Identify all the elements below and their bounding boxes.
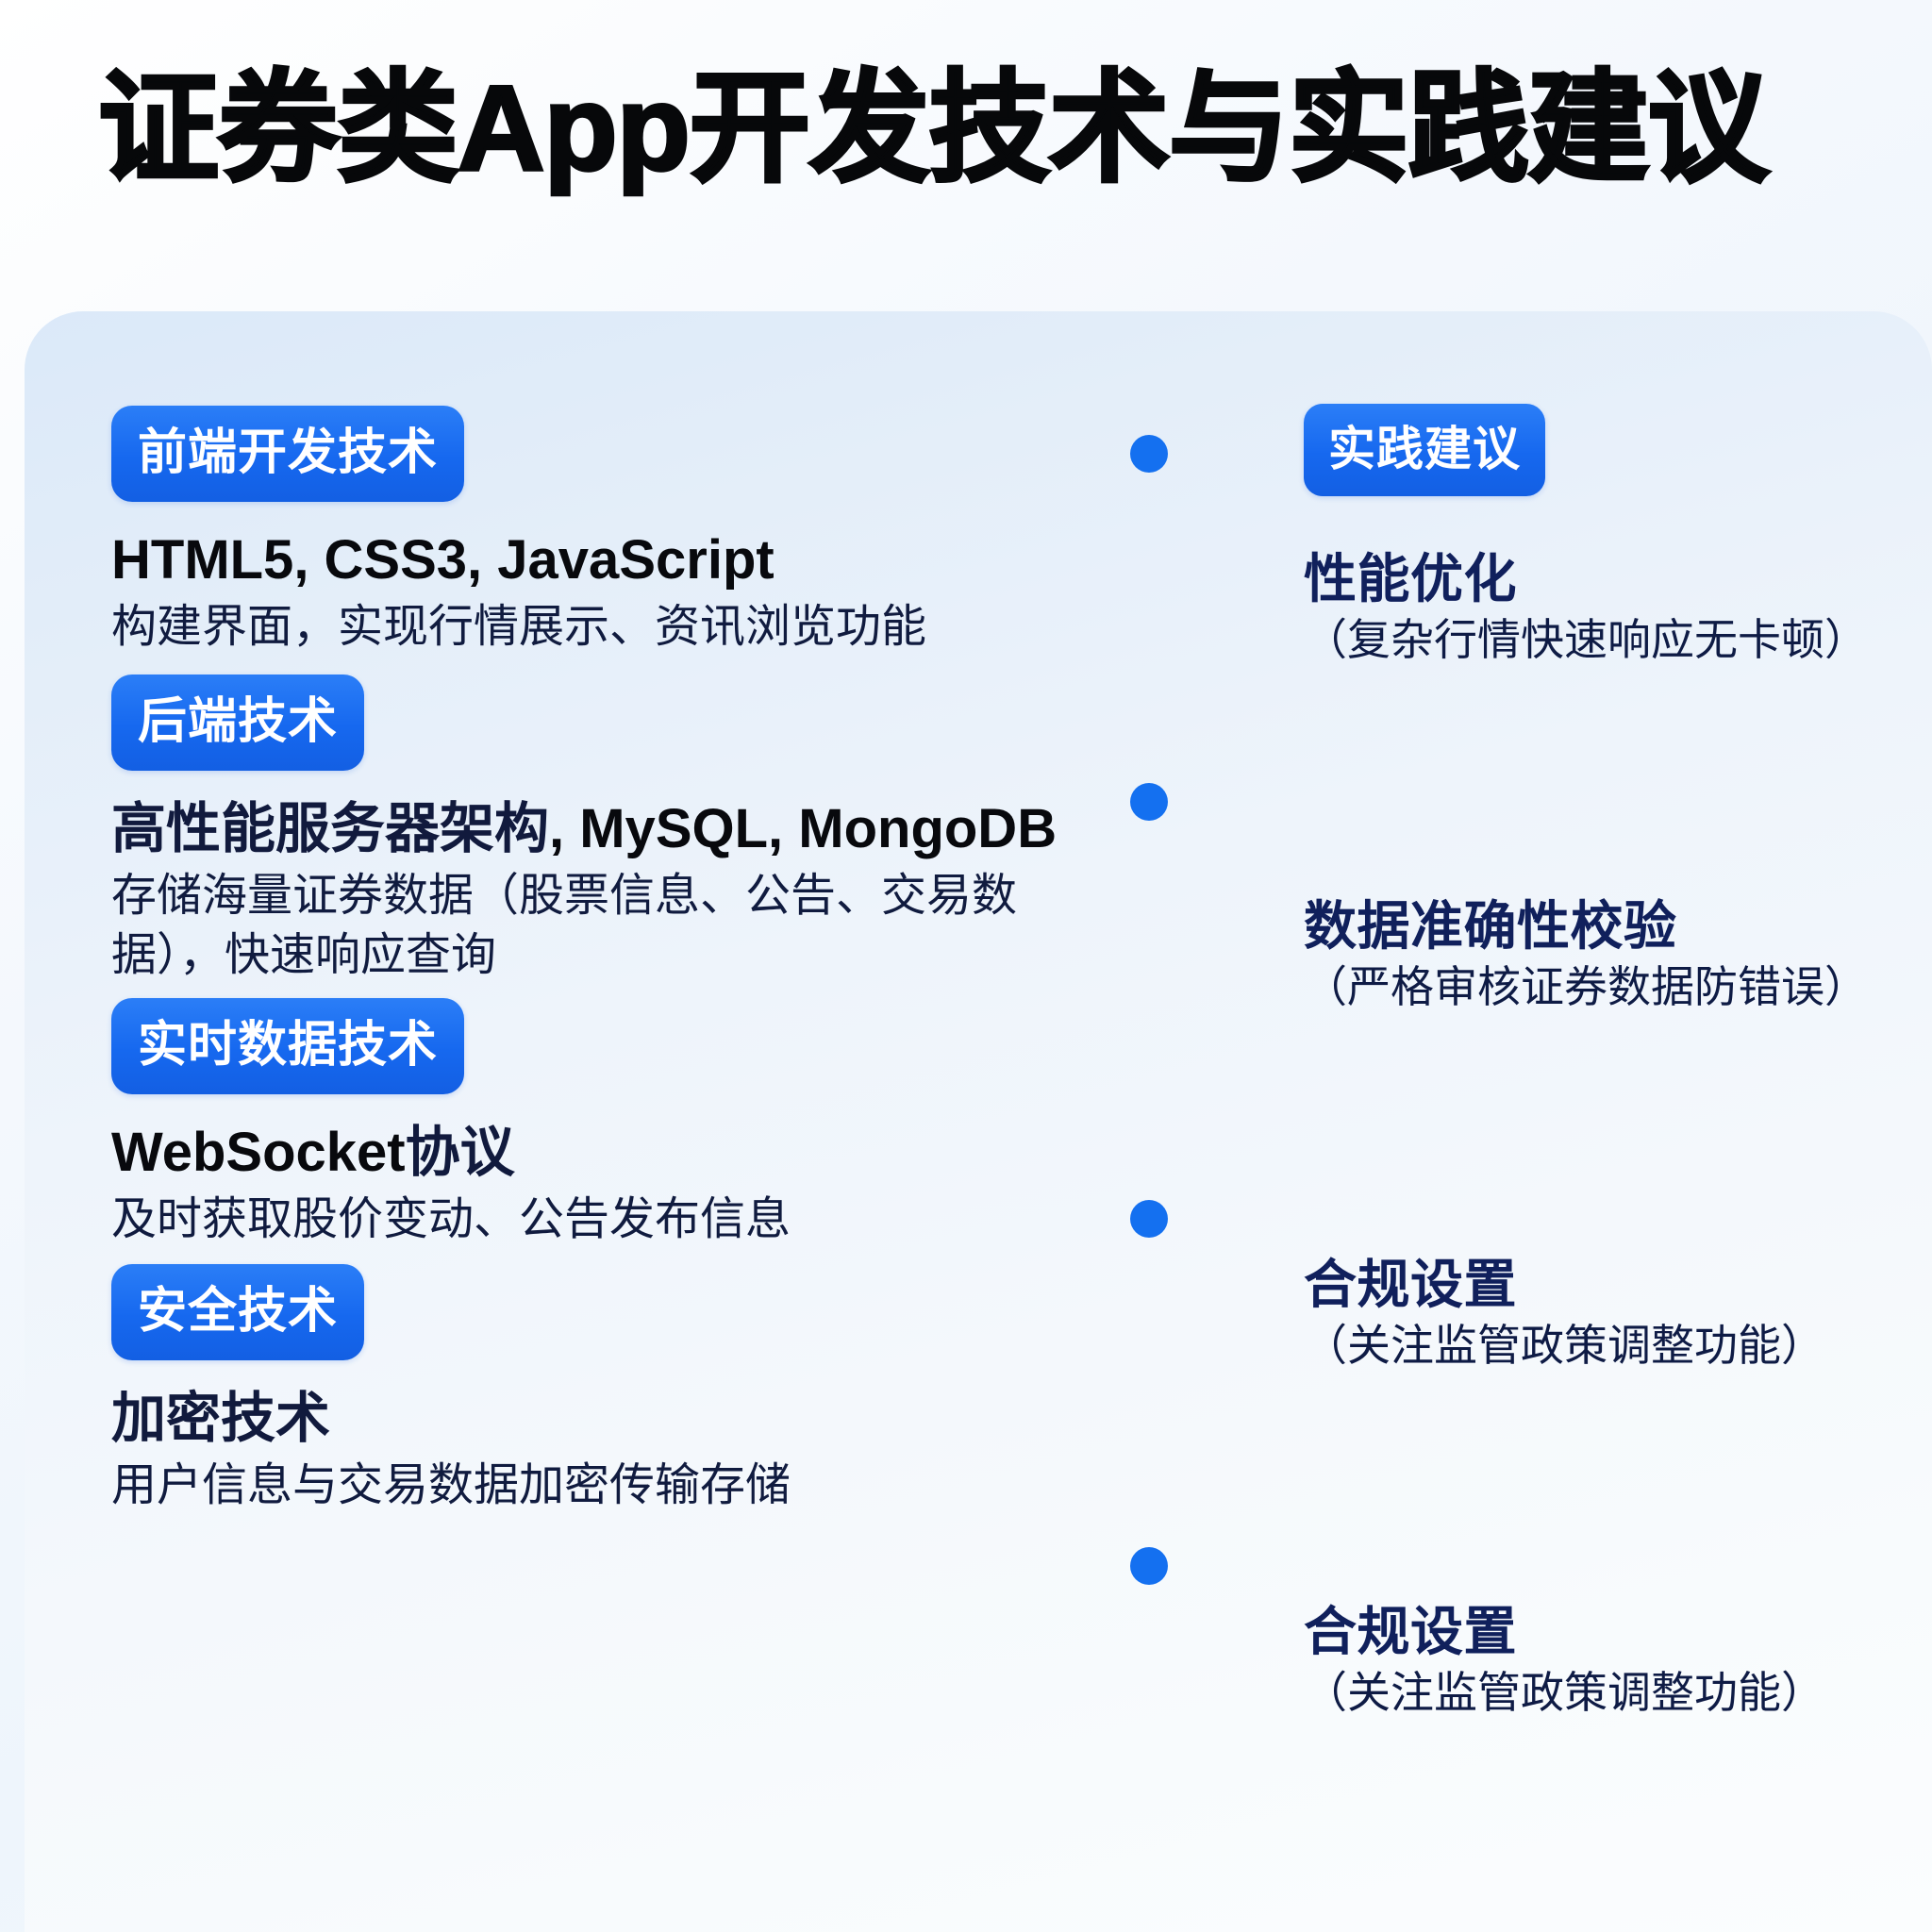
- desc-security: 用户信息与交易数据加密传输存储: [111, 1457, 1017, 1515]
- page-title: 证券类App开发技术与实践建议: [98, 69, 1768, 190]
- practice-desc-compliance-2: （关注监管政策调整功能）: [1304, 1666, 1870, 1721]
- practice-heading-performance: 性能优化: [1304, 549, 1907, 609]
- badge-security[interactable]: 安全技术: [111, 1264, 364, 1360]
- practice-section-compliance-2: 合规设置 （关注监管政策调整功能）: [1304, 1602, 1907, 1721]
- badge-backend[interactable]: 后端技术: [111, 675, 364, 771]
- heading-security-cn: 加密技术: [111, 1388, 330, 1449]
- tech-section-frontend: 前端开发技术 HTML5, CSS3, JavaScript 构建界面，实现行情…: [111, 406, 1055, 658]
- heading-backend: 高性能服务器架构, MySQL, MongoDB: [111, 797, 1055, 861]
- practice-heading-data-accuracy: 数据准确性校验: [1304, 896, 1907, 957]
- heading-security: 加密技术: [111, 1387, 1055, 1451]
- practice-section-performance: 性能优化 （复杂行情快速响应无卡顿）: [1304, 549, 1907, 668]
- desc-backend: 存储海量证券数据（股票信息、公告、交易数据），快速响应查询: [111, 867, 1017, 985]
- heading-frontend: HTML5, CSS3, JavaScript: [111, 528, 1055, 592]
- practice-badge-wrap: 实践建议: [1304, 404, 1907, 496]
- heading-backend-en: , MySQL, MongoDB: [549, 798, 1057, 859]
- tech-section-backend: 后端技术 高性能服务器架构, MySQL, MongoDB 存储海量证券数据（股…: [111, 675, 1055, 985]
- practice-desc-compliance-1: （关注监管政策调整功能）: [1304, 1319, 1870, 1374]
- badge-realtime[interactable]: 实时数据技术: [111, 998, 464, 1094]
- tech-section-realtime: 实时数据技术 WebSocket协议 及时获取股价变动、公告发布信息: [111, 998, 1055, 1250]
- desc-realtime: 及时获取股价变动、公告发布信息: [111, 1191, 1017, 1249]
- heading-realtime: WebSocket协议: [111, 1121, 1055, 1185]
- practice-section-compliance-1: 合规设置 （关注监管政策调整功能）: [1304, 1255, 1907, 1374]
- practice-desc-performance: （复杂行情快速响应无卡顿）: [1304, 613, 1870, 668]
- practice-heading-compliance-2: 合规设置: [1304, 1602, 1907, 1662]
- practice-heading-compliance-1: 合规设置: [1304, 1255, 1907, 1315]
- practice-section-data-accuracy: 数据准确性校验 （严格审核证券数据防错误）: [1304, 896, 1907, 1015]
- badge-frontend[interactable]: 前端开发技术: [111, 406, 464, 502]
- badge-practice-advice[interactable]: 实践建议: [1304, 404, 1545, 496]
- title-bar: 证券类App开发技术与实践建议: [98, 49, 1872, 209]
- tech-section-security: 安全技术 加密技术 用户信息与交易数据加密传输存储: [111, 1264, 1055, 1516]
- desc-frontend: 构建界面，实现行情展示、资讯浏览功能: [111, 598, 1017, 657]
- heading-realtime-en: WebSocket: [111, 1122, 406, 1183]
- heading-backend-cn: 高性能服务器架构: [111, 798, 549, 859]
- heading-frontend-en: HTML5, CSS3, JavaScript: [111, 529, 774, 591]
- practice-desc-data-accuracy: （严格审核证券数据防错误）: [1304, 960, 1870, 1015]
- heading-realtime-cn: 协议: [406, 1122, 515, 1183]
